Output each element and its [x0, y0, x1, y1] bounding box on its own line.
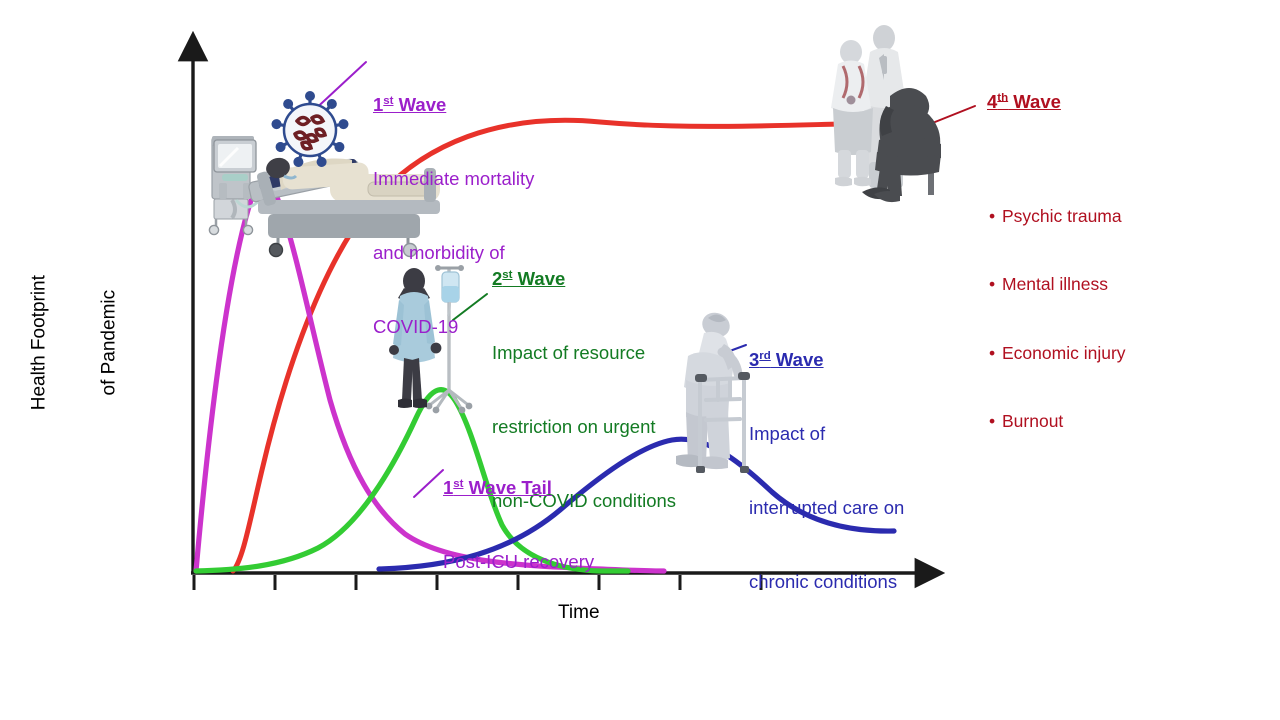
label-wave-2-word: Wave — [513, 268, 566, 289]
label-wave-4-bullet-4: Burnout — [987, 410, 1126, 433]
label-wave-1-suffix: st — [383, 95, 393, 107]
label-wave-1-line-1: Immediate mortality — [373, 167, 534, 192]
coronavirus-particle-icon — [271, 91, 350, 168]
label-wave-1-tail: 1st Wave Tail Post-ICU recovery — [443, 427, 594, 624]
label-wave-1-tail-word: Wave Tail — [464, 477, 552, 498]
label-wave-3-title: 3rd Wave — [749, 348, 904, 373]
label-wave-3-line-2: interrupted care on — [749, 496, 904, 521]
label-wave-1-title: 1st Wave — [373, 93, 534, 118]
y-axis-label-line1: Health Footprint — [28, 233, 51, 453]
label-wave-4: 4th Wave Psychic trauma Mental illness E… — [987, 44, 1126, 524]
label-wave-3-line-1: Impact of — [749, 422, 904, 447]
label-wave-1-word: Wave — [394, 94, 447, 115]
label-wave-3: 3rd Wave Impact of interrupted care on c… — [749, 299, 904, 643]
label-wave-2-title: 2st Wave — [492, 267, 676, 292]
figure-canvas: Health Footprint of Pandemic Time 1st Wa… — [0, 0, 1280, 720]
y-axis-label-line2: of Pandemic — [97, 233, 120, 453]
label-wave-4-bullet-2: Mental illness — [987, 273, 1126, 296]
label-wave-4-word: Wave — [1008, 91, 1061, 112]
label-wave-4-bullet-list: Psychic trauma Mental illness Economic i… — [987, 159, 1126, 479]
label-wave-3-ordinal: 3 — [749, 349, 759, 370]
label-wave-4-suffix: th — [997, 91, 1008, 103]
label-wave-1-ordinal: 1 — [373, 94, 383, 115]
label-wave-1-tail-suffix: st — [453, 478, 463, 490]
label-wave-1-tail-title: 1st Wave Tail — [443, 476, 594, 501]
elderly-person-with-walking-frame-illustration — [676, 309, 750, 473]
label-wave-1-tail-line-1: Post-ICU recovery — [443, 550, 594, 575]
label-wave-4-title: 4th Wave — [987, 90, 1126, 114]
label-wave-3-word: Wave — [771, 349, 824, 370]
label-wave-3-line-3: chronic conditions — [749, 570, 904, 595]
healthcare-workers-and-distressed-person-illustration — [831, 25, 941, 202]
label-wave-1-tail-ordinal: 1 — [443, 477, 453, 498]
label-wave-2-line-1: Impact of resource — [492, 341, 676, 366]
label-wave-4-ordinal: 4 — [987, 91, 997, 112]
label-wave-2-suffix: st — [502, 269, 512, 281]
y-axis-label: Health Footprint of Pandemic — [0, 233, 167, 453]
label-wave-2-ordinal: 2 — [492, 268, 502, 289]
label-wave-4-bullet-1: Psychic trauma — [987, 205, 1126, 228]
label-wave-3-suffix: rd — [759, 350, 770, 362]
label-wave-4-bullet-3: Economic injury — [987, 342, 1126, 365]
